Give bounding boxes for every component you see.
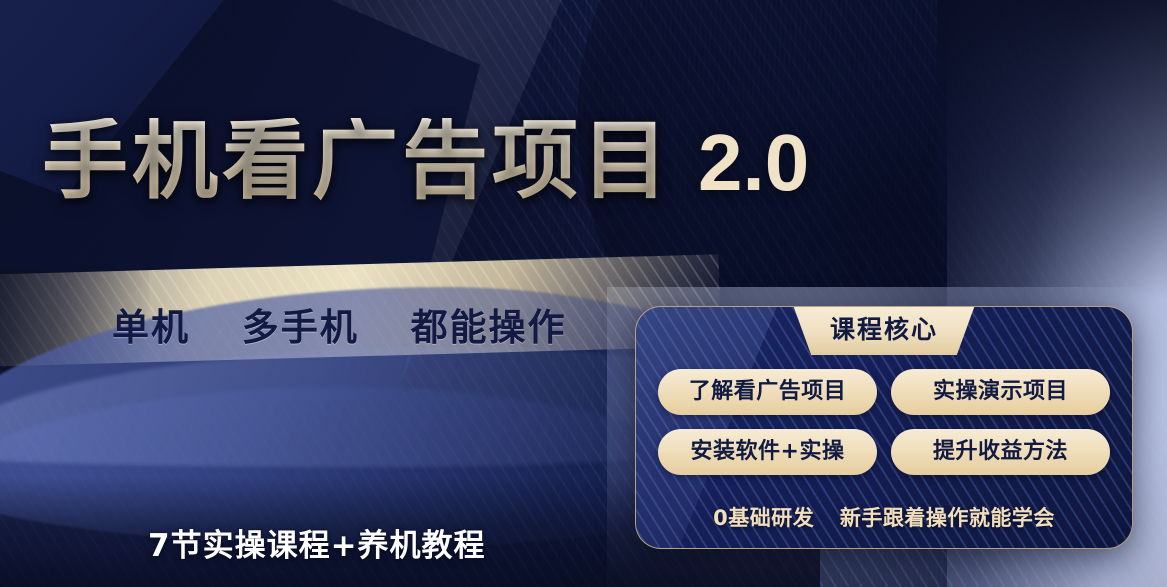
core-pill-label: 了解看广告项目: [689, 381, 847, 403]
headline-version-text: 2.0: [698, 123, 809, 203]
subtitle: 单机 多手机 都能操作: [112, 297, 567, 351]
course-core-panel: 课程核心 了解看广告项目 实操演示项目 安装软件+实操 提升收益方法 0基础研发: [635, 306, 1133, 549]
course-caption: 7节实操课程+养机教程: [148, 520, 486, 565]
subtitle-part-3: 都能操作: [411, 306, 567, 349]
core-pill-item[interactable]: 安装软件+实操: [658, 429, 877, 475]
core-pill-item[interactable]: 提升收益方法: [891, 429, 1110, 475]
headline: 手机看广告项目 2.0: [42, 118, 809, 204]
core-pill-item[interactable]: 实操演示项目: [891, 369, 1110, 415]
headline-title-text: 手机看广告项目: [42, 118, 672, 204]
promo-banner: 手机看广告项目 2.0 单机 多手机 都能操作 7节实操课程+养机教程 课程核心…: [0, 0, 1167, 587]
panel-content: 课程核心 了解看广告项目 实操演示项目 安装软件+实操 提升收益方法 0基础研发: [636, 307, 1132, 548]
subtitle-part-1: 单机: [112, 306, 190, 349]
right-glow-top-shade: [937, 0, 1167, 300]
core-pill-item[interactable]: 了解看广告项目: [658, 369, 877, 415]
core-pill-label: 提升收益方法: [933, 441, 1068, 463]
core-tag-label: 课程核心: [830, 317, 938, 344]
panel-footer-text: 0基础研发 新手跟着操作就能学会: [636, 502, 1132, 532]
panel-footer-part-2: 新手跟着操作就能学会: [840, 506, 1055, 530]
core-pill-grid: 了解看广告项目 实操演示项目 安装软件+实操 提升收益方法: [658, 369, 1110, 475]
core-pill-label: 安装软件+实操: [691, 441, 845, 463]
panel-footer-part-1: 0基础研发: [713, 506, 814, 530]
subtitle-part-2: 多手机: [242, 306, 359, 349]
core-tag-banner: 课程核心: [793, 306, 975, 355]
core-pill-label: 实操演示项目: [933, 381, 1068, 403]
